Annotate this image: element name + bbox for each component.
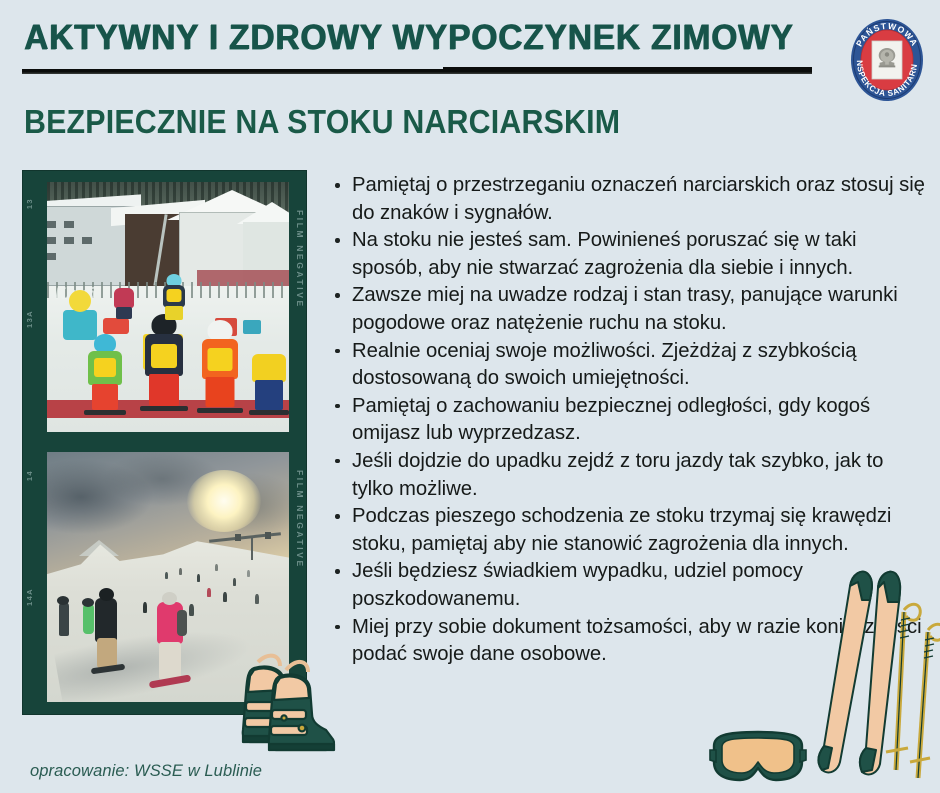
film-frame-mark: 14 bbox=[25, 470, 41, 481]
film-frame-mark: 13 bbox=[25, 198, 41, 209]
list-item: Na stoku nie jesteś sam. Powinieneś poru… bbox=[330, 227, 930, 282]
list-item: Realnie oceniaj swoje możliwości. Zjeżdż… bbox=[330, 338, 930, 393]
skis-and-poles-illustration bbox=[800, 556, 940, 788]
page-subtitle: BEZPIECZNIE NA STOKU NARCIARSKIM bbox=[24, 103, 620, 141]
page-title: AKTYWNY I ZDROWY WYPOCZYNEK ZIMOWY bbox=[24, 18, 782, 58]
credit-line: opracowanie: WSSE w Lublinie bbox=[30, 762, 262, 781]
panstwowa-inspekcja-sanitarna-logo: PAŃSTWOWA INSPEKCJA SANITARNA bbox=[846, 14, 928, 106]
film-frame-mark: 14A bbox=[25, 588, 41, 606]
film-edge-label: FILM NEGATIVE bbox=[295, 470, 305, 569]
ski-goggles-illustration bbox=[704, 728, 812, 786]
header-divider bbox=[22, 69, 812, 74]
poster-canvas: AKTYWNY I ZDROWY WYPOCZYNEK ZIMOWY BEZPI… bbox=[0, 0, 940, 788]
photo-ski-school-children: Клуб bbox=[47, 182, 289, 432]
list-item: Pamiętaj o zachowaniu bezpiecznej odległ… bbox=[330, 393, 930, 448]
list-item: Podczas pieszego schodzenia ze stoku trz… bbox=[330, 503, 930, 558]
list-item: Zawsze miej na uwadze rodzaj i stan tras… bbox=[330, 282, 930, 337]
film-edge-label: FILM NEGATIVE bbox=[295, 210, 305, 309]
list-item: Jeśli dojdzie do upadku zejdź z toru jaz… bbox=[330, 448, 930, 503]
ski-boots-illustration bbox=[196, 648, 336, 776]
film-strip-frame: FILM NEGATIVE FILM NEGATIVE 13 13A 14 14… bbox=[22, 170, 307, 715]
list-item: Pamiętaj o przestrzeganiu oznaczeń narci… bbox=[330, 172, 930, 227]
film-frame-mark: 13A bbox=[25, 310, 41, 328]
